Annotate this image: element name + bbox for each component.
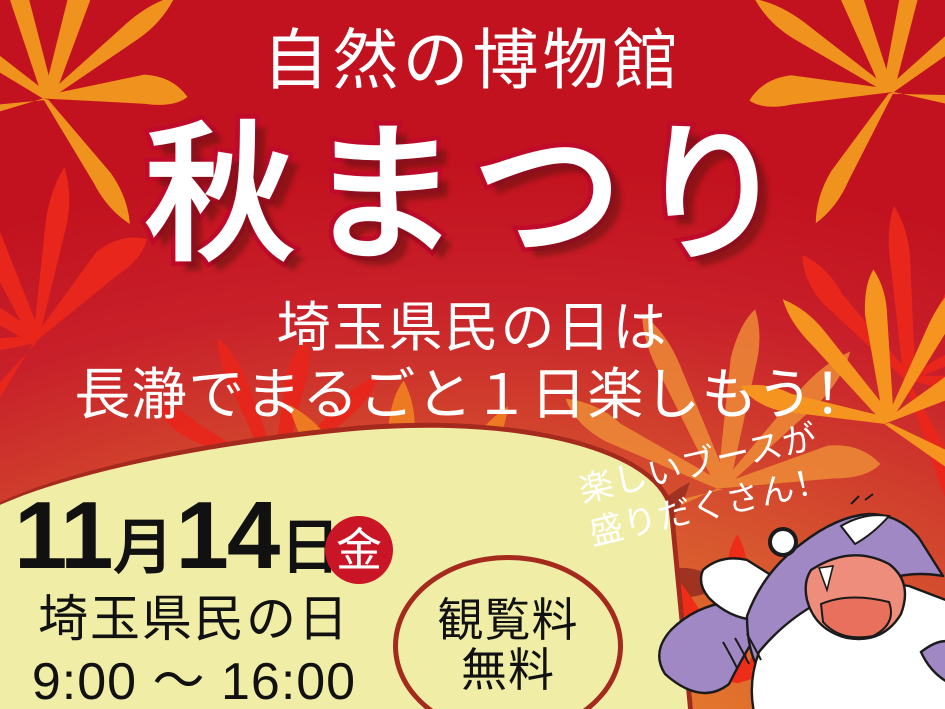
admission-label: 観覧料 (438, 596, 579, 646)
month-number: 11 (14, 488, 111, 584)
day-number: 14 (175, 488, 278, 584)
lead-text: 埼玉県民の日は 長瀞でまるごと１日楽しもう！ (0, 296, 945, 428)
event-date: 11 月 14 日 (14, 488, 374, 584)
autumn-festival-poster: 自然の博物館 秋まつり 埼玉県民の日は 長瀞でまるごと１日楽しもう！ 11 月 … (0, 0, 945, 709)
weekday-badge: 金 (325, 516, 393, 584)
museum-name: 自然の博物館 (0, 26, 945, 96)
lead-line-1: 埼玉県民の日は (0, 296, 945, 361)
prefecture-day-label: 埼玉県民の日 (14, 594, 374, 644)
page-title: 秋まつり (0, 120, 945, 270)
opening-hours: 9:00 〜 16:00 (14, 656, 374, 708)
event-date-block: 11 月 14 日 埼玉県民の日 9:00 〜 16:00 (14, 488, 374, 708)
booth-callout: 楽しいブースが 盛りだくさん！ (575, 409, 858, 556)
month-kanji: 月 (111, 518, 175, 578)
admission-value: 無料 (461, 646, 555, 696)
